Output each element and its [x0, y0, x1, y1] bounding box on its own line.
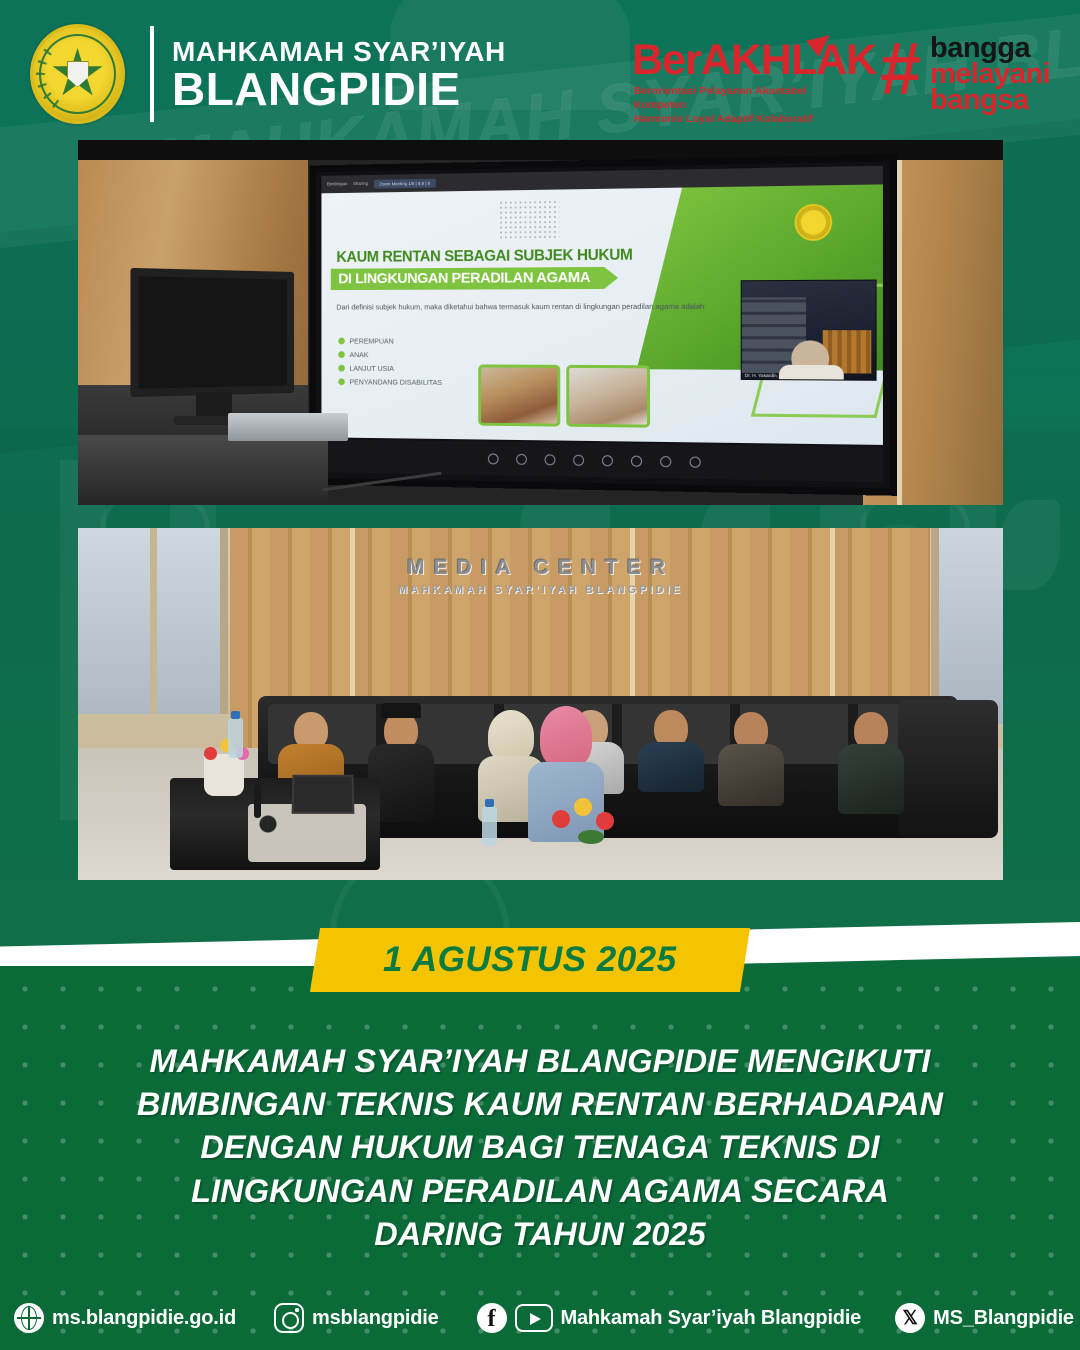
check-bullet-icon	[338, 351, 345, 358]
reactions-icon[interactable]	[660, 456, 671, 467]
slide-bullet-label: LANJUT USIA	[350, 364, 394, 373]
photo2-flower-vase-1	[204, 754, 244, 796]
bangga-melayani-bangsa-logo: # bangga melayani bangsa	[880, 28, 1060, 114]
share-screen-icon[interactable]	[602, 455, 613, 466]
footer-website[interactable]: ms.blangpidie.go.id	[14, 1303, 236, 1333]
photo1-computer-monitor	[130, 268, 294, 397]
list-item: ANAK	[338, 350, 442, 359]
title-line-4: LINGKUNGAN PERADILAN AGAMA SECARA	[50, 1170, 1030, 1213]
slide-photo-thumbnails	[478, 364, 650, 427]
x-glyph: 𝕏	[895, 1303, 925, 1333]
date-text: 1 AGUSTUS 2025	[383, 940, 677, 980]
photo2-person-8	[838, 712, 904, 814]
title-line-2: BIMBINGAN TEKNIS KAUM RENTAN BERHADAPAN	[50, 1083, 1030, 1126]
header-title-line2: BLANGPIDIE	[172, 66, 461, 112]
instagram-icon	[274, 1303, 304, 1333]
slide-heading-line2: DI LINGKUNGAN PERADILAN AGAMA	[338, 269, 590, 288]
header-bar: MAHKAMAH SYAR’IYAH BLANGPIDIE BerAKHLAK …	[0, 0, 1080, 130]
slide-seal-icon	[795, 204, 833, 241]
photo-media-center-room: MEDIA CENTER MAHKAMAH SYAR’IYAH BLANGPID…	[78, 528, 1003, 880]
leave-icon[interactable]	[690, 456, 701, 467]
slide-heading-line1: KAUM RENTAN SEBAGAI SUBJEK HUKUM	[336, 247, 632, 267]
slide-dot-grid	[499, 199, 560, 239]
check-bullet-icon	[338, 338, 345, 345]
photo2-person-7	[718, 712, 784, 806]
footer-bar: ms.blangpidie.go.id msblangpidie f Mahka…	[0, 1286, 1080, 1350]
chat-icon[interactable]	[573, 454, 584, 465]
footer-social-label: Mahkamah Syar’iyah Blangpidie	[561, 1307, 862, 1330]
footer-instagram-label: msblangpidie	[312, 1307, 439, 1330]
photo1-television: Bimbingan Sharing Zoom Meeting 1/8 | 8.8…	[309, 154, 896, 496]
check-bullet-icon	[338, 365, 345, 372]
berakhlak-tagline-line1: Berorientasi Pelayanan Akuntabel Kompete…	[634, 84, 852, 112]
participants-icon[interactable]	[545, 454, 556, 465]
camera-icon[interactable]	[516, 453, 527, 464]
photo1-slide: KAUM RENTAN SEBAGAI SUBJEK HUKUM DI LING…	[321, 184, 883, 445]
slide-thumbnail-2	[566, 365, 650, 428]
video-participant-tile: Dr. H. Yasardin, S.H., M.Hum	[741, 280, 877, 381]
slide-bullet-list: PEREMPUAN ANAK LANJUT USIA PENYANDANG DI…	[338, 337, 442, 392]
youtube-icon	[515, 1304, 553, 1332]
photo-presentation-screen: Bimbingan Sharing Zoom Meeting 1/8 | 8.8…	[78, 140, 1003, 505]
photo2-water-bottle-2	[482, 806, 497, 846]
record-icon[interactable]	[631, 455, 642, 466]
participant-name-label: Dr. H. Yasardin, S.H., M.Hum	[745, 373, 807, 378]
date-banner: 1 AGUSTUS 2025	[310, 928, 750, 992]
title-line-3: DENGAN HUKUM BAGI TENAGA TEKNIS DI	[50, 1126, 1030, 1169]
berakhlak-logo: BerAKHLAK Berorientasi Pelayanan Akuntab…	[632, 36, 852, 114]
footer-x-twitter[interactable]: 𝕏 MS_Blangpidie	[895, 1303, 1074, 1333]
photo2-water-bottle-1	[228, 718, 243, 758]
globe-icon	[14, 1303, 44, 1333]
slide-bullet-label: PEREMPUAN	[350, 337, 394, 346]
page-title: MAHKAMAH SYAR’IYAH BLANGPIDIE MENGIKUTI …	[50, 1040, 1030, 1256]
title-line-1: MAHKAMAH SYAR’IYAH BLANGPIDIE MENGIKUTI	[50, 1040, 1030, 1083]
slide-body-text: Dari definisi subjek hukum, maka diketah…	[336, 301, 749, 313]
check-bullet-icon	[338, 378, 345, 385]
bangga-word-3: bangsa	[930, 84, 1029, 117]
slide-thumbnail-1	[478, 364, 560, 426]
mic-icon[interactable]	[488, 453, 499, 464]
facebook-icon: f	[477, 1303, 507, 1333]
berakhlak-tagline: Berorientasi Pelayanan Akuntabel Kompete…	[634, 84, 852, 127]
slide-bullet-label: PENYANDANG DISABILITAS	[350, 377, 443, 386]
list-item: PENYANDANG DISABILITAS	[338, 377, 442, 386]
hashtag-icon: #	[880, 34, 936, 106]
berakhlak-wordmark: BerAKHLAK	[632, 36, 876, 85]
photo1-app-label: Bimbingan	[327, 181, 347, 187]
photo1-meeting-chip: Zoom Meeting 1/8 | 8.8 | 8	[374, 178, 436, 188]
footer-website-label: ms.blangpidie.go.id	[52, 1307, 236, 1330]
photo2-flower-vase-2	[548, 790, 644, 856]
photo1-tab-label: Sharing	[353, 181, 368, 187]
slide-bullet-label: ANAK	[350, 350, 369, 359]
photo1-desk	[78, 435, 328, 505]
mahkamah-syariyah-seal-icon	[30, 24, 125, 124]
list-item: LANJUT USIA	[338, 364, 442, 373]
title-line-5: DARING TAHUN 2025	[50, 1213, 1030, 1256]
photo1-monitor-stand	[196, 392, 232, 418]
list-item: PEREMPUAN	[338, 337, 442, 346]
photo2-laptop	[292, 775, 355, 814]
footer-x-label: MS_Blangpidie	[933, 1307, 1074, 1330]
photo2-sofa-right	[898, 700, 998, 838]
berakhlak-tagline-line2: Harmonis Loyal Adaptif Kolaboratif	[634, 112, 852, 126]
header-divider	[150, 26, 154, 122]
photo2-microphone	[254, 784, 261, 818]
media-center-sign-line1: MEDIA CENTER	[78, 556, 1003, 580]
media-center-sign-line2: MAHKAMAH SYAR’IYAH BLANGPIDIE	[78, 584, 1003, 596]
x-twitter-icon: 𝕏	[895, 1303, 925, 1333]
poster-canvas: MAHKAMAH SYAR’IYAH BLANGPIDIE MAHKAMAH S…	[0, 0, 1080, 1350]
photo2-person-6	[638, 710, 704, 792]
footer-social-pages[interactable]: f Mahkamah Syar’iyah Blangpidie	[477, 1303, 862, 1333]
photo1-equipment-box	[228, 413, 348, 441]
slide-heading-banner: DI LINGKUNGAN PERADILAN AGAMA	[331, 267, 618, 290]
footer-instagram[interactable]: msblangpidie	[274, 1303, 439, 1333]
